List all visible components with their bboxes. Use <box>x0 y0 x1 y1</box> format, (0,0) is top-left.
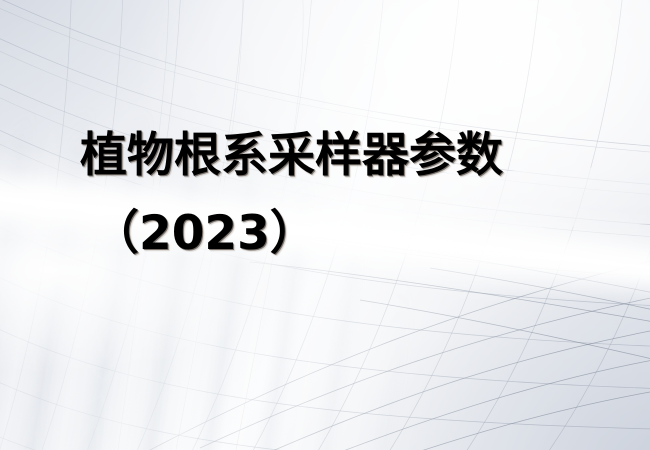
title-slide: 植物根系采样器参数 （2023） <box>0 0 650 450</box>
slide-subtitle-year: （2023） <box>92 204 317 264</box>
title-block: 植物根系采样器参数 （2023） <box>0 0 650 450</box>
slide-title: 植物根系采样器参数 <box>80 126 503 186</box>
